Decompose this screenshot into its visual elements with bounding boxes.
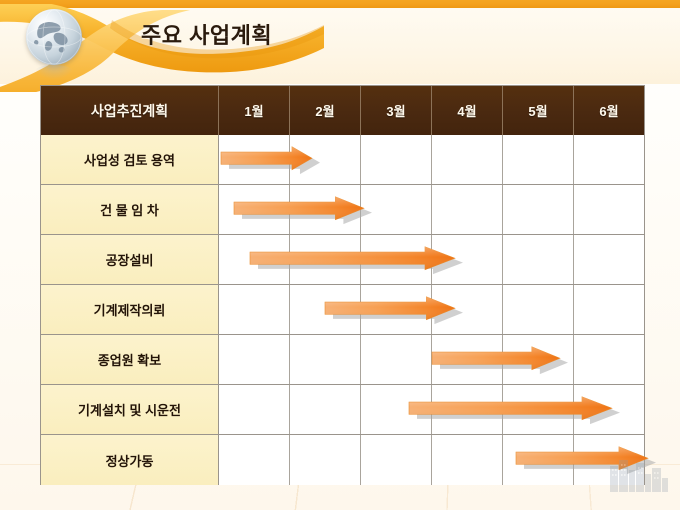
header-cell-month-6: 6월 <box>574 86 644 135</box>
gantt-bar-3[interactable] <box>325 295 455 325</box>
globe-reflection <box>34 65 74 79</box>
header-cell-plan: 사업추진계획 <box>41 86 219 135</box>
row-label-2: 공장설비 <box>41 235 219 284</box>
cell-r0-m4 <box>432 135 503 184</box>
row-label-0: 사업성 검토 용역 <box>41 135 219 184</box>
globe-icon <box>26 9 82 65</box>
gantt-bar-4[interactable] <box>432 345 560 375</box>
header-cell-month-5: 5월 <box>503 86 574 135</box>
cell-r5-m1 <box>219 385 290 434</box>
table-row: 사업성 검토 용역 <box>41 135 644 185</box>
cell-r6-m2 <box>290 435 361 485</box>
header-background <box>0 8 680 84</box>
table-header-row: 사업추진계획 1월 2월 3월 4월 5월 6월 <box>41 86 644 135</box>
gantt-bar-1[interactable] <box>234 195 364 225</box>
gantt-bar-2[interactable] <box>250 245 455 275</box>
cell-r6-m3 <box>361 435 432 485</box>
cell-r1-m5 <box>503 185 574 234</box>
row-label-3: 기계제작의뢰 <box>41 285 219 334</box>
header-cell-month-1: 1월 <box>219 86 290 135</box>
cell-r2-m5 <box>503 235 574 284</box>
cell-r1-m4 <box>432 185 503 234</box>
row-label-1: 건 물 임 차 <box>41 185 219 234</box>
cell-r5-m2 <box>290 385 361 434</box>
row-label-4: 종업원 확보 <box>41 335 219 384</box>
row-label-6: 정상가동 <box>41 435 219 485</box>
cell-r3-m1 <box>219 285 290 334</box>
top-orange-band <box>0 0 680 8</box>
page-title: 주요 사업계획 <box>141 18 272 50</box>
cell-r0-m6 <box>574 135 644 184</box>
header-cell-month-2: 2월 <box>290 86 361 135</box>
cell-r1-m3 <box>361 185 432 234</box>
cell-r2-m6 <box>574 235 644 284</box>
row-label-5: 기계설치 및 시운전 <box>41 385 219 434</box>
cell-r3-m5 <box>503 285 574 334</box>
cell-r6-m1 <box>219 435 290 485</box>
cell-r4-m6 <box>574 335 644 384</box>
cell-r1-m6 <box>574 185 644 234</box>
gantt-bar-6[interactable] <box>516 445 648 475</box>
header-cell-month-3: 3월 <box>361 86 432 135</box>
cell-r4-m2 <box>290 335 361 384</box>
cell-r4-m1 <box>219 335 290 384</box>
header-cell-month-4: 4월 <box>432 86 503 135</box>
cell-r3-m6 <box>574 285 644 334</box>
slide-canvas: 주요 사업계획 사업추진계획 1월 2월 3월 4월 5월 6월 사업성 검토 … <box>0 0 680 510</box>
cell-r0-m3 <box>361 135 432 184</box>
cell-r6-m4 <box>432 435 503 485</box>
cell-r0-m5 <box>503 135 574 184</box>
gantt-bar-0[interactable] <box>221 145 312 175</box>
gantt-bar-5[interactable] <box>409 395 612 425</box>
gantt-table: 사업추진계획 1월 2월 3월 4월 5월 6월 사업성 검토 용역 건 물 임… <box>40 85 645 485</box>
cell-r4-m3 <box>361 335 432 384</box>
